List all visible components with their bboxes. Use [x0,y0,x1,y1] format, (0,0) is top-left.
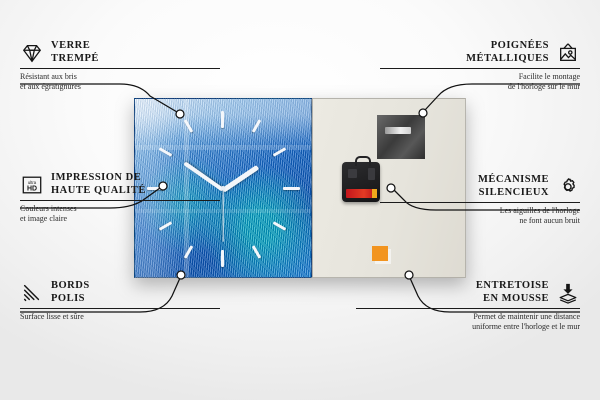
battery-positive-terminal [372,189,377,198]
svg-text:ultra: ultra [28,180,37,185]
feature-divider [356,308,580,309]
feature-description: Facilite le montagede l'horloge sur le m… [380,72,580,92]
bracket-slot [385,127,411,134]
feature-impression-haute-qualite: ultra HD IMPRESSION DEHAUTE QUALITÉ Coul… [20,172,220,224]
clock-second-hand [222,190,223,242]
gear-icon [556,176,580,198]
mechanism-detail [368,168,375,180]
feature-divider [20,68,220,69]
feature-divider [380,68,580,69]
feature-title: POIGNÉESMÉTALLIQUES [466,40,549,65]
clock-tick [221,250,224,267]
feature-description: Surface lisse et sûre [20,312,220,322]
feature-divider [380,202,580,203]
ultra-hd-icon: ultra HD [20,174,44,196]
clock-tick [221,111,224,128]
feature-divider [20,308,220,309]
feature-mecanisme-silencieux: MÉCANISMESILENCIEUX Les aiguilles de l'h… [380,174,580,226]
feature-title: BORDSPOLIS [51,280,90,305]
svg-text:HD: HD [27,185,37,192]
mechanism-detail [348,169,357,178]
feature-header: ultra HD IMPRESSION DEHAUTE QUALITÉ [20,172,220,197]
polished-edge-icon [20,282,44,304]
clock-center-pin [221,186,225,190]
feature-bords-polis: BORDSPOLIS Surface lisse et sûre [20,280,220,322]
diamond-icon [20,42,44,64]
feature-description: Les aiguilles de l'horlogene font aucun … [380,206,580,226]
mechanism-hanger-hook [355,156,371,166]
infographic-canvas: VERRETREMPÉ Résistant aux briset aux égr… [0,0,600,400]
feature-title: VERRETREMPÉ [51,40,99,65]
feature-title: ENTRETOISEEN MOUSSE [476,280,549,305]
feature-header: MÉCANISMESILENCIEUX [380,174,580,199]
feature-title: MÉCANISMESILENCIEUX [478,174,549,199]
feature-divider [20,200,220,201]
foam-spacer [372,246,388,261]
foam-spacer-icon [556,282,580,304]
feature-title: IMPRESSION DEHAUTE QUALITÉ [51,172,146,197]
feature-description: Permet de maintenir une distanceuniforme… [356,312,580,332]
feature-header: ENTRETOISEEN MOUSSE [356,280,580,305]
metal-hanger-bracket [377,115,425,159]
clock-tick [283,187,300,190]
framed-picture-hook-icon [556,42,580,64]
battery [346,189,376,198]
quartz-mechanism [342,162,380,202]
feature-verre-trempe: VERRETREMPÉ Résistant aux briset aux égr… [20,40,220,92]
feature-header: VERRETREMPÉ [20,40,220,65]
feature-header: BORDSPOLIS [20,280,220,305]
feature-description: Couleurs intenseset image claire [20,204,220,224]
feature-poignees-metalliques: POIGNÉESMÉTALLIQUES Facilite le montaged… [380,40,580,92]
feature-header: POIGNÉESMÉTALLIQUES [380,40,580,65]
feature-entretoise-en-mousse: ENTRETOISEEN MOUSSE Permet de maintenir … [356,280,580,332]
feature-description: Résistant aux briset aux égratignures [20,72,220,92]
